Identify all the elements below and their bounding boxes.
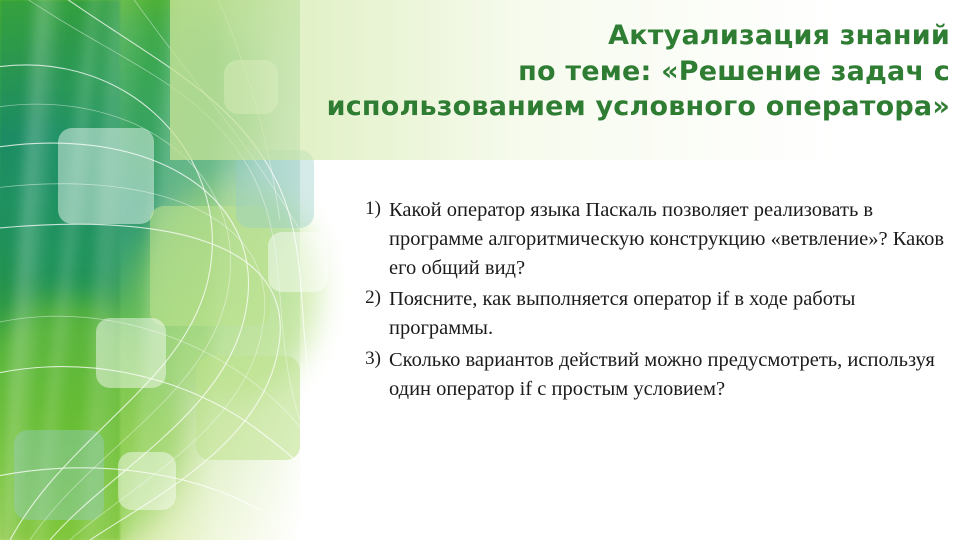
rounded-square-shape: [268, 232, 328, 292]
slide: Актуализация знаний по теме: «Решение за…: [0, 0, 960, 540]
blob-shape: [140, 180, 320, 400]
list-item: Сколько вариантов действий можно предусм…: [389, 346, 949, 404]
title-line-2: по теме: «Решение задач с: [90, 54, 950, 90]
list-item: Какой оператор языка Паскаль позволяет р…: [389, 196, 949, 283]
rounded-square-shape: [96, 318, 166, 388]
slide-title: Актуализация знаний по теме: «Решение за…: [90, 18, 950, 125]
rounded-square-shape: [58, 128, 154, 224]
rounded-square-shape: [14, 430, 104, 520]
rounded-square-shape: [150, 206, 270, 326]
blob-shape: [0, 300, 180, 540]
rounded-square-shape: [196, 356, 300, 460]
blob-shape: [0, 120, 150, 300]
light-streak-shape: [0, 0, 66, 540]
rounded-square-shape: [236, 150, 314, 228]
rounded-square-shape: [118, 452, 176, 510]
list-item: Поясните, как выполняется оператор if в …: [389, 285, 949, 343]
title-line-1: Актуализация знаний: [90, 18, 950, 54]
question-list: Какой оператор языка Паскаль позволяет р…: [345, 196, 949, 406]
title-line-3: использованием условного оператора»: [90, 89, 950, 125]
